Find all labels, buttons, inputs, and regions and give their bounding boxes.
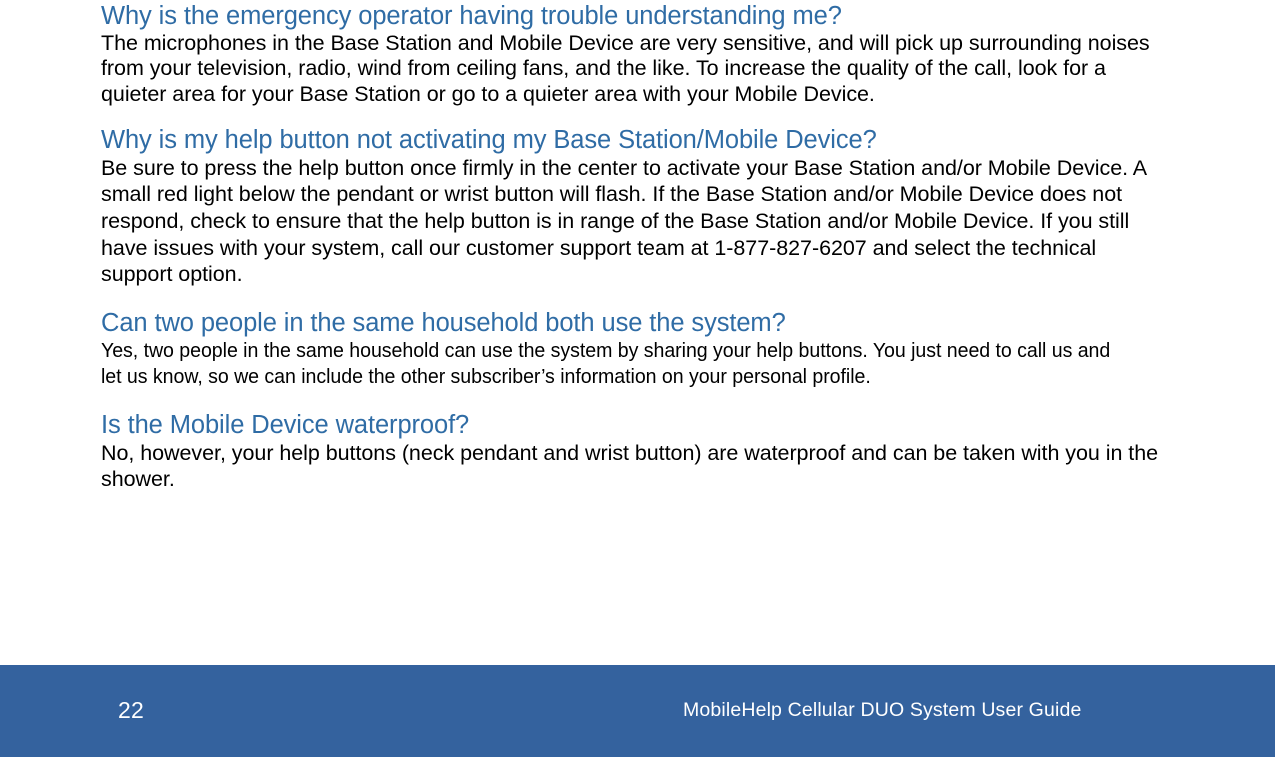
faq-answer-text: Be sure to press the help button once fi… [101,155,1163,288]
page-footer: 22 MobileHelp Cellular DUO System User G… [0,665,1275,757]
faq-question-heading: Can two people in the same household bot… [101,308,1167,338]
footer-document-title: MobileHelp Cellular DUO System User Guid… [683,698,1081,722]
faq-section: Why is my help button not activating my … [101,125,1167,288]
footer-inner: 22 MobileHelp Cellular DUO System User G… [0,665,1275,757]
faq-section: Can two people in the same household bot… [101,308,1167,391]
faq-section: Why is the emergency operator having tro… [101,1,1167,107]
document-page: Why is the emergency operator having tro… [0,0,1275,757]
faq-question-heading: Why is the emergency operator having tro… [101,1,1167,31]
faq-question-heading: Is the Mobile Device waterproof? [101,410,1167,440]
faq-section: Is the Mobile Device waterproof? No, how… [101,410,1167,493]
faq-answer-text: Yes, two people in the same household ca… [101,338,1125,391]
page-number: 22 [118,697,144,723]
faq-answer-text: The microphones in the Base Station and … [101,31,1163,107]
faq-content-area: Why is the emergency operator having tro… [101,0,1167,493]
faq-answer-text: No, however, your help buttons (neck pen… [101,440,1191,493]
faq-question-heading: Why is my help button not activating my … [101,125,1167,155]
